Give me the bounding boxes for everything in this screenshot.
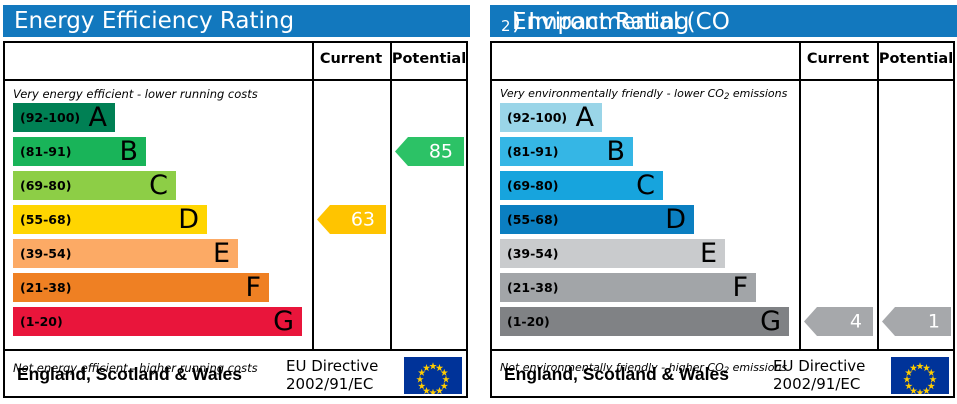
band-letter: D [178,205,199,232]
band-range: (55-68) [20,213,71,226]
potential-rating-arrow: 1 [882,307,951,336]
column-header-current: Current [799,51,877,67]
chart-frame: Current Potential Very energy efficient … [3,41,468,398]
band-letter: E [700,239,717,266]
band-range: (55-68) [507,213,558,226]
footer-directive-line2: 2002/91/EC [773,375,860,393]
band-letter: B [606,137,625,164]
band-range: (21-38) [20,281,71,294]
footer-directive-line2: 2002/91/EC [286,375,373,393]
band-range: (1-20) [20,315,63,328]
band-letter: G [273,307,294,334]
column-divider-current [799,43,801,349]
current-rating-value: 63 [351,210,375,229]
footer-country: England, Scotland & Wales [504,364,729,385]
caption-top: Very energy efficient - lower running co… [13,87,258,101]
footer-country: England, Scotland & Wales [17,364,242,385]
band-range: (39-54) [507,247,558,260]
column-header-rule [492,79,953,81]
band-list: (92-100) A (81-91) B (69-80) C (55-68) D… [5,101,312,357]
potential-rating-arrow: 85 [395,137,464,166]
band-row: (55-68) D [500,205,694,234]
band-range: (69-80) [507,179,558,192]
band-row: (81-91) B [13,137,146,166]
band-row: (1-20) G [13,307,302,336]
band-range: (39-54) [20,247,71,260]
band-letter: G [760,307,781,334]
band-letter: A [576,103,594,130]
band-row: (92-100) A [500,103,602,132]
band-row: (1-20) G [500,307,789,336]
page-title: Energy Efficiency Rating [14,6,294,36]
page-title: Environmental (CO2) Impact Rating [501,6,511,38]
column-header-rule [5,79,466,81]
caption-top-prefix: Very environmentally friendly - lower CO [500,87,724,100]
band-row: (81-91) B [500,137,633,166]
page-title-suffix: ) Impact Rating [512,7,689,37]
band-letter: F [245,273,261,300]
eu-flag-icon [404,357,462,394]
environmental-co2-impact-rating-chart: Environmental (CO2) Impact Rating Curren… [490,0,957,404]
caption-top-suffix: emissions [729,87,787,100]
chart-title-bar: Environmental (CO2) Impact Rating [490,5,957,37]
band-row: (39-54) E [13,239,238,268]
current-rating-value: 4 [850,312,862,331]
band-range: (1-20) [507,315,550,328]
band-row: (21-38) F [13,273,269,302]
band-range: (81-91) [507,145,558,158]
band-row: (39-54) E [500,239,725,268]
eu-flag-icon [891,357,949,394]
potential-rating-value: 1 [928,312,940,331]
band-list: (92-100) A (81-91) B (69-80) C (55-68) D… [492,101,799,357]
band-letter: C [149,171,168,198]
band-letter: A [89,103,107,130]
potential-rating-value: 85 [429,142,453,161]
footer-directive-line1: EU Directive [773,357,865,375]
band-letter: D [665,205,686,232]
band-row: (21-38) F [500,273,756,302]
current-rating-arrow: 63 [317,205,386,234]
column-divider-potential [877,43,879,349]
chart-footer: England, Scotland & Wales EU Directive 2… [492,351,953,398]
column-divider-current [312,43,314,349]
column-header-potential: Potential [390,51,468,67]
epc-charts-container: Energy Efficiency Rating Current Potenti… [0,0,957,404]
band-row: (55-68) D [13,205,207,234]
band-letter: F [732,273,748,300]
band-row: (92-100) A [13,103,115,132]
chart-footer: England, Scotland & Wales EU Directive 2… [5,351,466,398]
band-range: (92-100) [507,111,567,124]
column-header-current: Current [312,51,390,67]
band-range: (81-91) [20,145,71,158]
chart-frame: Current Potential Very environmentally f… [490,41,955,398]
caption-top: Very environmentally friendly - lower CO… [500,87,787,100]
band-range: (69-80) [20,179,71,192]
band-letter: C [636,171,655,198]
band-range: (21-38) [507,281,558,294]
current-rating-arrow: 4 [804,307,873,336]
band-row: (69-80) C [13,171,176,200]
column-header-potential: Potential [877,51,955,67]
band-letter: E [213,239,230,266]
page-title-subscript: 2 [501,17,511,35]
chart-title-bar: Energy Efficiency Rating [3,5,470,37]
band-row: (69-80) C [500,171,663,200]
band-letter: B [119,137,138,164]
energy-efficiency-rating-chart: Energy Efficiency Rating Current Potenti… [3,0,470,404]
column-divider-potential [390,43,392,349]
footer-directive-line1: EU Directive [286,357,378,375]
band-range: (92-100) [20,111,80,124]
